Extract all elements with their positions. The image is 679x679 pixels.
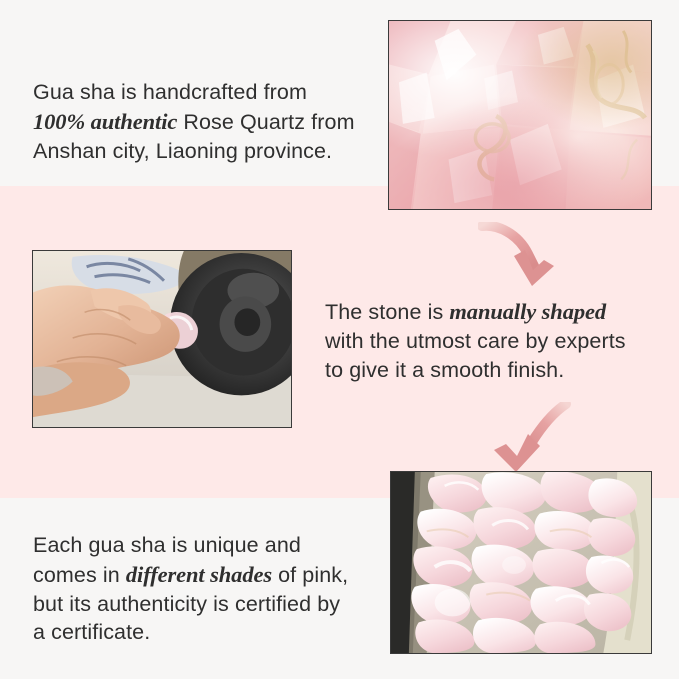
rose-quartz-illustration (389, 21, 651, 209)
step-1-image-rose-quartz (388, 20, 652, 210)
hands-grinding-illustration (33, 251, 291, 427)
step-1-emphasis: 100% authentic (33, 109, 177, 134)
step-2-image-shaping-stone (32, 250, 292, 428)
infographic-page: Gua sha is handcrafted from 100% authent… (0, 0, 679, 679)
step-2-text-after: with the utmost care by experts to give … (325, 329, 626, 382)
step-3-text: Each gua sha is unique and comes in diff… (33, 531, 383, 647)
step-2-text: The stone is manually shaped with the ut… (325, 297, 665, 384)
step-1-text: Gua sha is handcrafted from 100% authent… (33, 78, 383, 165)
step-3-image-gua-sha-tray (390, 471, 652, 654)
step-2-emphasis: manually shaped (449, 299, 606, 324)
gua-sha-pile-illustration (391, 472, 651, 653)
step-1-text-before: Gua sha is handcrafted from (33, 80, 307, 104)
step-3-emphasis: different shades (126, 562, 272, 587)
step-2-text-before: The stone is (325, 300, 449, 324)
